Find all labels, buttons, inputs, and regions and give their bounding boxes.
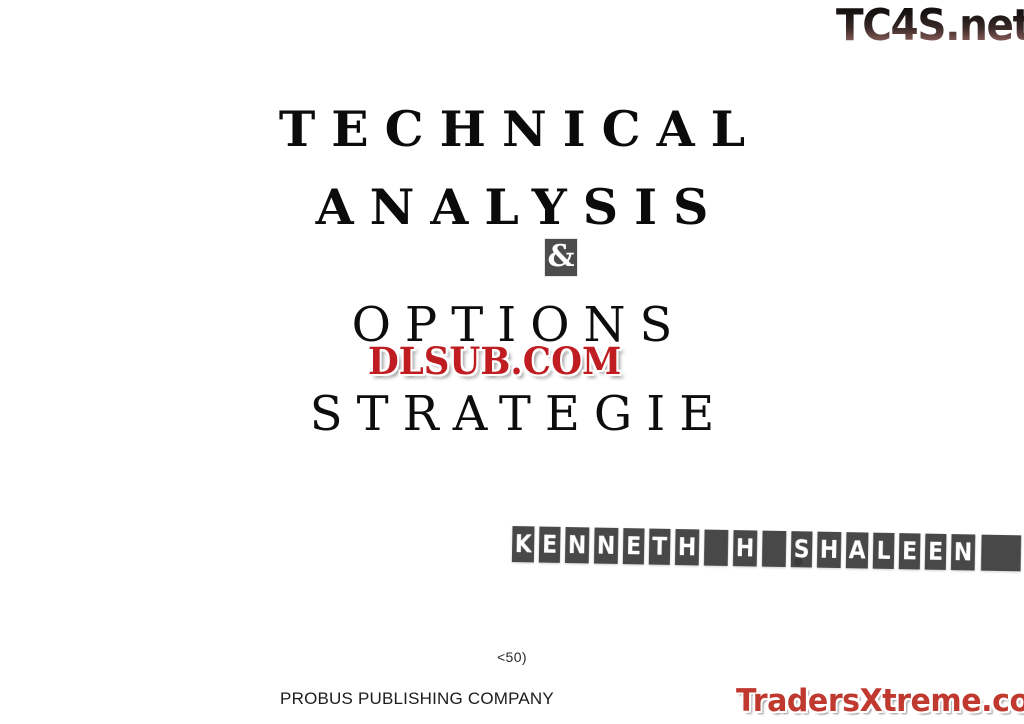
author-letter-tile (762, 531, 786, 567)
author-letter-tile: H (675, 529, 699, 565)
watermark-dlsub: DLSUB.COM (368, 341, 621, 382)
author-letter-tile: N (565, 527, 589, 563)
author-letter-tile: E (539, 527, 561, 563)
cover-ampersand-badge: & (545, 239, 577, 276)
watermark-tradersxtreme: TradersXtreme.com (736, 683, 1024, 719)
author-letter-tile: H (733, 530, 757, 566)
author-letter-tile (704, 530, 728, 566)
cover-title-line-technical: TECHNICAL (0, 100, 1024, 158)
author-letter-tile: E (623, 528, 645, 564)
author-letter-tile: H (817, 532, 841, 568)
cover-code-text: <50) (0, 649, 1024, 665)
author-letter-tile: E (899, 533, 921, 569)
author-letter-tile: K (512, 526, 535, 562)
author-letter-tile: T (649, 529, 671, 565)
watermark-tc4s: TC4S.net (836, 2, 1024, 50)
author-letter-tile (981, 535, 1021, 572)
author-name-band: KENNETH H SHALEEN (510, 526, 1024, 571)
cover-title-line-analysis: ANALYSIS (0, 178, 1024, 236)
book-cover-page: TC4S.net TECHNICAL ANALYSIS & OPTIONS DL… (0, 0, 1024, 724)
author-letter-tile: E (925, 534, 947, 570)
author-letter-tile: N (951, 534, 975, 570)
cover-title-line-strategie: STRATEGIE (0, 386, 1024, 442)
author-letter-tile: A (846, 532, 869, 568)
author-letter-tile: L (873, 533, 895, 569)
author-letter-tile: N (594, 528, 618, 564)
